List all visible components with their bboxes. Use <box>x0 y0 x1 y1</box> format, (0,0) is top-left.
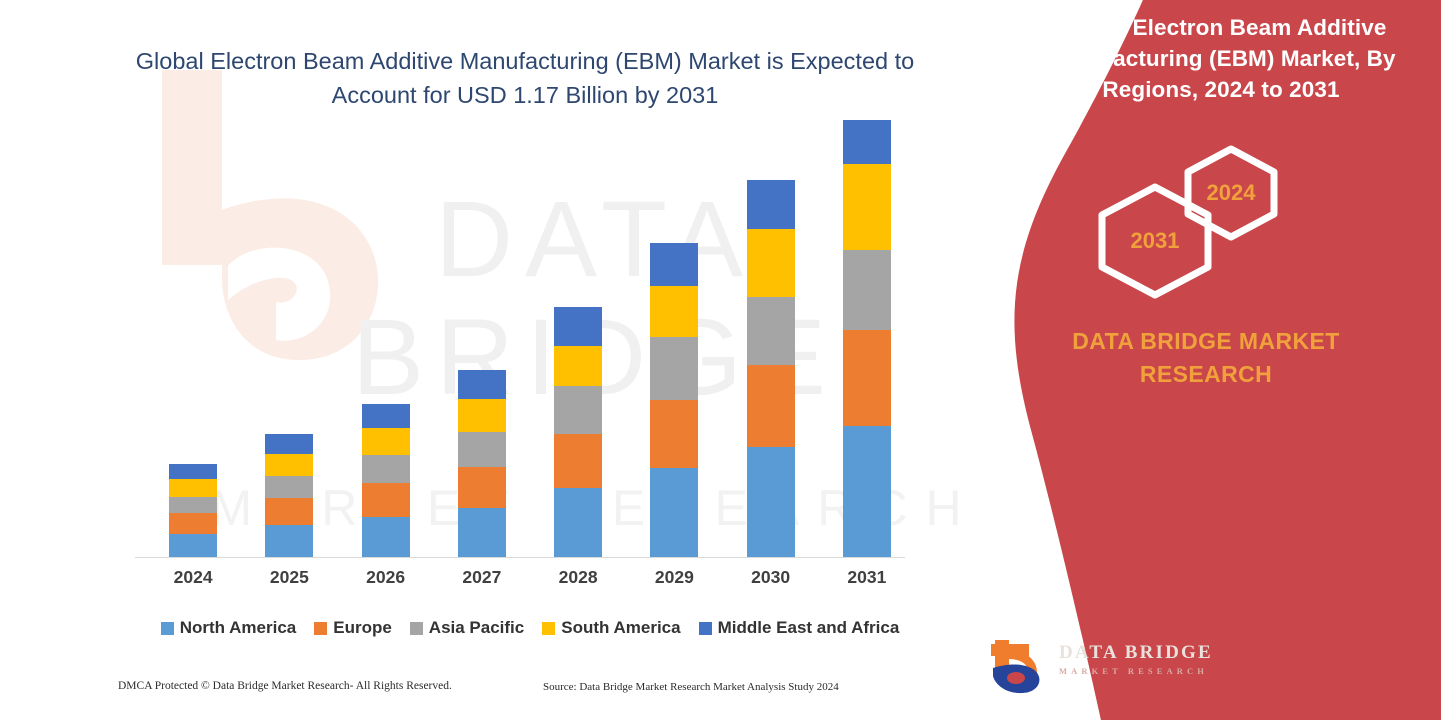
bar-segment <box>458 508 506 557</box>
x-axis-tick-2025: 2025 <box>244 567 334 588</box>
x-axis-tick-2027: 2027 <box>437 567 527 588</box>
legend-item[interactable]: Middle East and Africa <box>699 618 900 638</box>
bar-segment <box>362 455 410 483</box>
footer-copyright: DMCA Protected © Data Bridge Market Rese… <box>118 680 452 692</box>
bar-column-2031 <box>843 120 891 557</box>
bar-segment <box>265 476 313 498</box>
bar-segment <box>362 517 410 557</box>
bar-segment <box>169 497 217 513</box>
bar-segment <box>843 330 891 426</box>
bar-segment <box>265 498 313 525</box>
bar-segment <box>169 513 217 534</box>
dbmr-logo-text: DATA BRIDGE MARKET RESEARCH <box>1059 642 1249 678</box>
bar-segment <box>747 229 795 296</box>
bar-segment <box>169 479 217 497</box>
dbmr-logo-mark-icon <box>989 638 1051 696</box>
bar-segment <box>169 464 217 479</box>
bar-segment <box>458 432 506 466</box>
bar-segment <box>747 447 795 557</box>
dbmr-logo-secondary: MARKET RESEARCH <box>1059 664 1249 678</box>
legend-swatch-icon <box>410 622 423 635</box>
legend-label: North America <box>180 618 297 638</box>
bar-segment <box>554 307 602 346</box>
bar-segment <box>169 534 217 557</box>
bar-segment <box>747 297 795 365</box>
footer: DMCA Protected © Data Bridge Market Rese… <box>0 680 1000 704</box>
legend-label: Asia Pacific <box>429 618 524 638</box>
footer-source: Source: Data Bridge Market Research Mark… <box>543 681 839 693</box>
legend-item[interactable]: Asia Pacific <box>410 618 524 638</box>
bar-segment <box>458 399 506 432</box>
bar-segment <box>843 164 891 250</box>
bar-series-container <box>135 120 905 557</box>
dbmr-logo: DATA BRIDGE MARKET RESEARCH <box>989 636 1249 698</box>
bar-segment <box>458 370 506 399</box>
bar-column-2026 <box>362 404 410 557</box>
x-axis-tick-2026: 2026 <box>341 567 431 588</box>
legend-swatch-icon <box>314 622 327 635</box>
x-axis-line <box>135 557 905 558</box>
bar-segment <box>650 468 698 557</box>
legend-label: Middle East and Africa <box>718 618 900 638</box>
chart-legend: North AmericaEuropeAsia PacificSouth Ame… <box>135 615 925 641</box>
brand-name: DATA BRIDGE MARKET RESEARCH <box>1006 325 1406 391</box>
hexagon-end-year: 2031 <box>1097 182 1213 300</box>
bar-segment <box>650 337 698 400</box>
dbmr-logo-primary: DATA BRIDGE <box>1059 642 1249 664</box>
bar-segment <box>362 483 410 517</box>
bar-column-2028 <box>554 307 602 557</box>
x-axis-tick-2028: 2028 <box>533 567 623 588</box>
legend-swatch-icon <box>699 622 712 635</box>
bar-segment <box>265 525 313 557</box>
hexagon-group: 2024 2031 <box>971 140 1441 285</box>
bar-segment <box>265 454 313 476</box>
bar-segment <box>747 180 795 230</box>
bar-segment <box>747 365 795 447</box>
bar-segment <box>362 404 410 428</box>
infographic-canvas: DATA BRIDGE MARKET RESEARCH Global Elect… <box>0 0 1441 720</box>
legend-item[interactable]: Europe <box>314 618 392 638</box>
legend-label: Europe <box>333 618 392 638</box>
bar-segment <box>650 243 698 286</box>
bar-column-2030 <box>747 180 795 557</box>
bar-segment <box>554 488 602 557</box>
legend-label: South America <box>561 618 680 638</box>
hexagon-end-year-label: 2031 <box>1097 182 1213 300</box>
x-axis-tick-2030: 2030 <box>726 567 816 588</box>
legend-item[interactable]: South America <box>542 618 680 638</box>
x-axis-tick-2029: 2029 <box>629 567 719 588</box>
bar-segment <box>362 428 410 455</box>
bar-segment <box>843 250 891 330</box>
bar-segment <box>265 434 313 454</box>
bar-segment <box>843 426 891 557</box>
x-axis-labels: 20242025202620272028202920302031 <box>135 567 905 595</box>
chart-plot-area <box>135 120 905 558</box>
x-axis-tick-2031: 2031 <box>822 567 912 588</box>
bar-segment <box>554 386 602 434</box>
x-axis-tick-2024: 2024 <box>148 567 238 588</box>
right-red-panel: Global Electron Beam Additive Manufactur… <box>971 0 1441 720</box>
bar-segment <box>554 346 602 386</box>
bar-segment <box>458 467 506 508</box>
bar-segment <box>843 120 891 164</box>
bar-column-2027 <box>458 370 506 557</box>
legend-swatch-icon <box>542 622 555 635</box>
bar-segment <box>650 286 698 338</box>
bar-segment <box>650 400 698 468</box>
panel-title: Global Electron Beam Additive Manufactur… <box>1021 12 1421 105</box>
legend-swatch-icon <box>161 622 174 635</box>
legend-item[interactable]: North America <box>161 618 297 638</box>
bar-column-2029 <box>650 243 698 557</box>
bar-column-2024 <box>169 464 217 557</box>
bar-column-2025 <box>265 434 313 557</box>
bar-segment <box>554 434 602 488</box>
page-title: Global Electron Beam Additive Manufactur… <box>120 44 930 112</box>
